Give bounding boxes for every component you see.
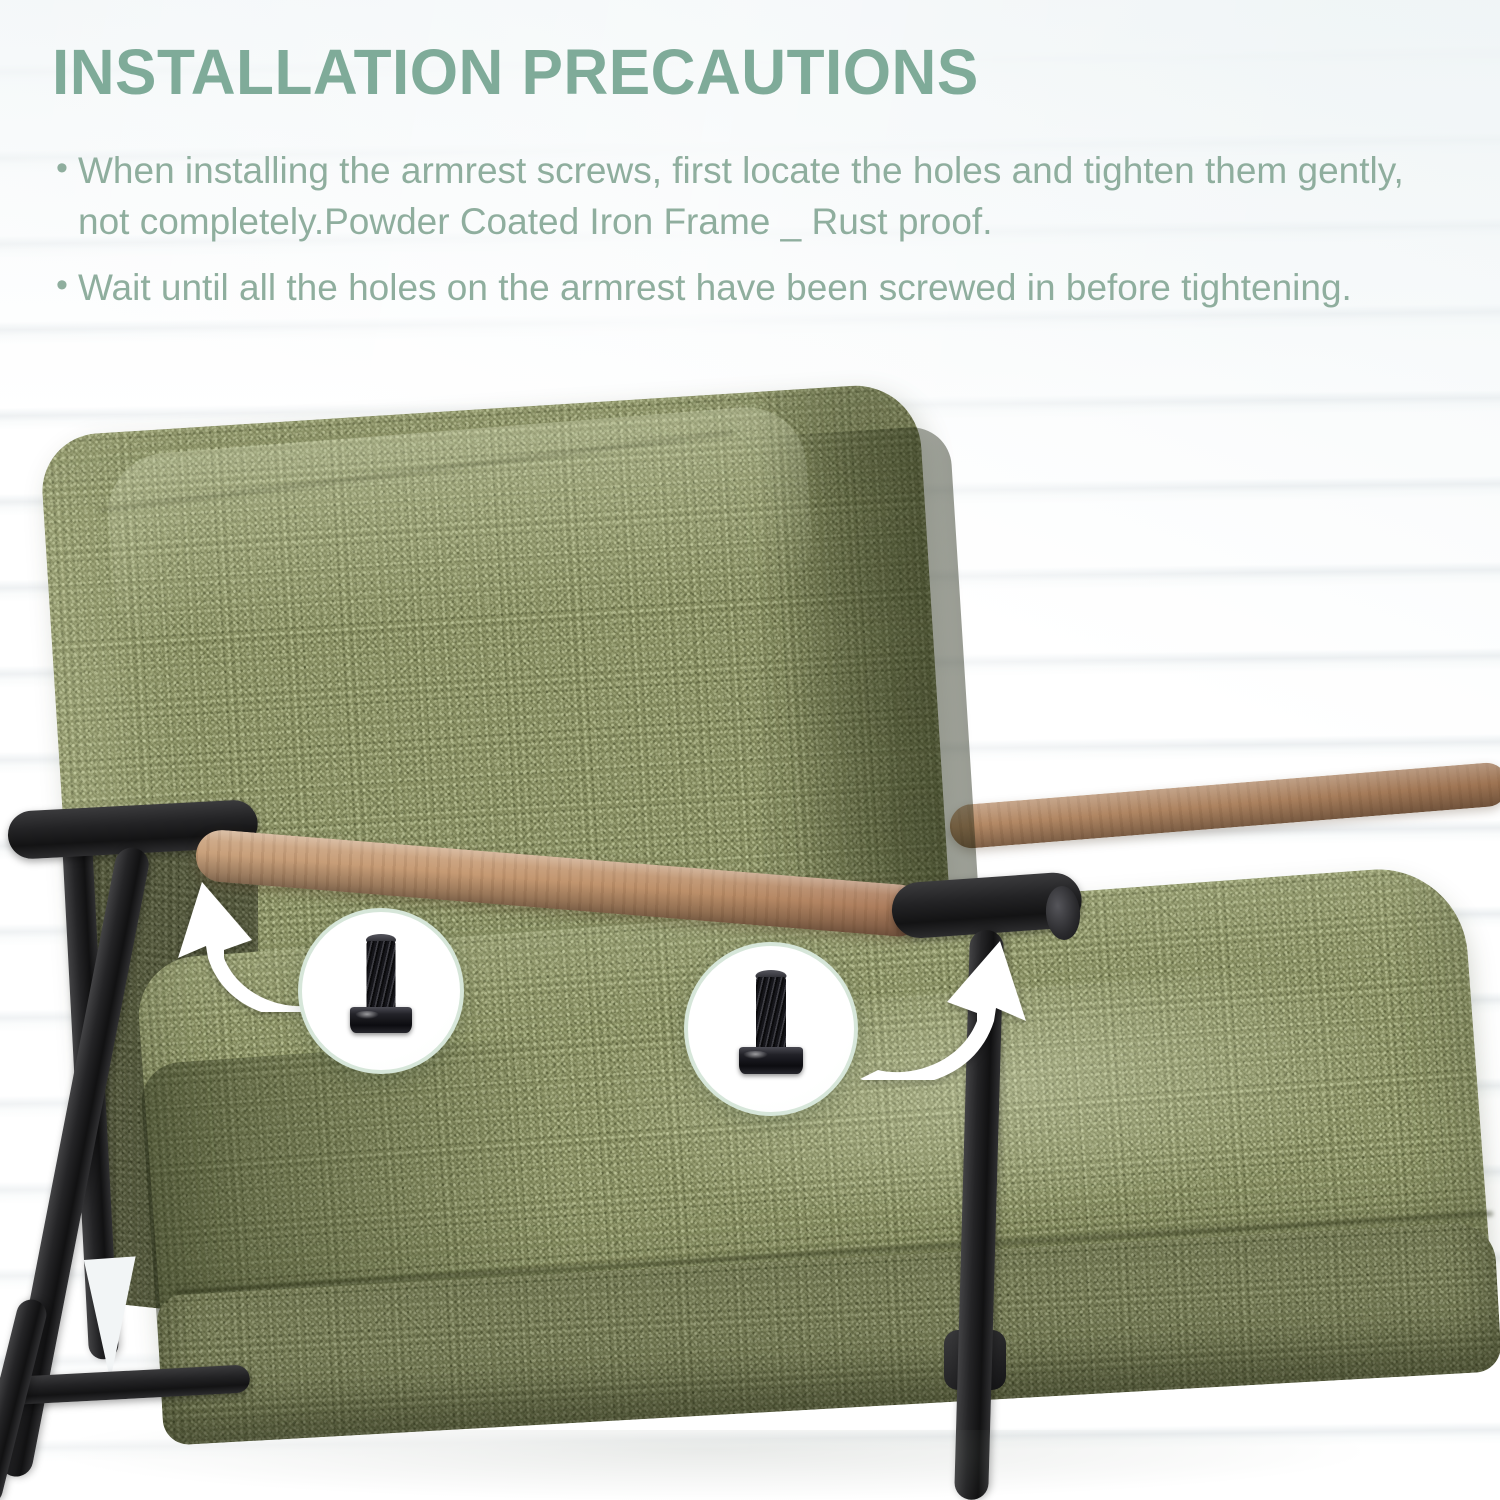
screw-callout-left[interactable]: [298, 908, 464, 1074]
screw-callout-right[interactable]: [684, 942, 858, 1116]
installation-precautions-graphic: INSTALLATION PRECAUTIONS • When installi…: [0, 0, 1500, 1500]
list-item: • Wait until all the holes on the armres…: [56, 263, 1462, 314]
list-item-text: Wait until all the holes on the armrest …: [78, 263, 1462, 314]
frame-gap-triangle: [84, 1256, 144, 1381]
screw-icon: [729, 973, 813, 1085]
screw-icon: [341, 937, 421, 1045]
page-title: INSTALLATION PRECAUTIONS: [52, 40, 979, 104]
list-item: • When installing the armrest screws, fi…: [56, 146, 1462, 247]
precautions-list: • When installing the armrest screws, fi…: [56, 146, 1462, 330]
far-wood-armrest: [948, 761, 1500, 850]
curved-arrow-up-right-icon: [846, 920, 1036, 1080]
bullet-marker-icon: •: [56, 146, 78, 190]
list-item-text: When installing the armrest screws, firs…: [78, 146, 1462, 247]
floor-shadow: [60, 1430, 1360, 1500]
bullet-marker-icon: •: [56, 263, 78, 307]
